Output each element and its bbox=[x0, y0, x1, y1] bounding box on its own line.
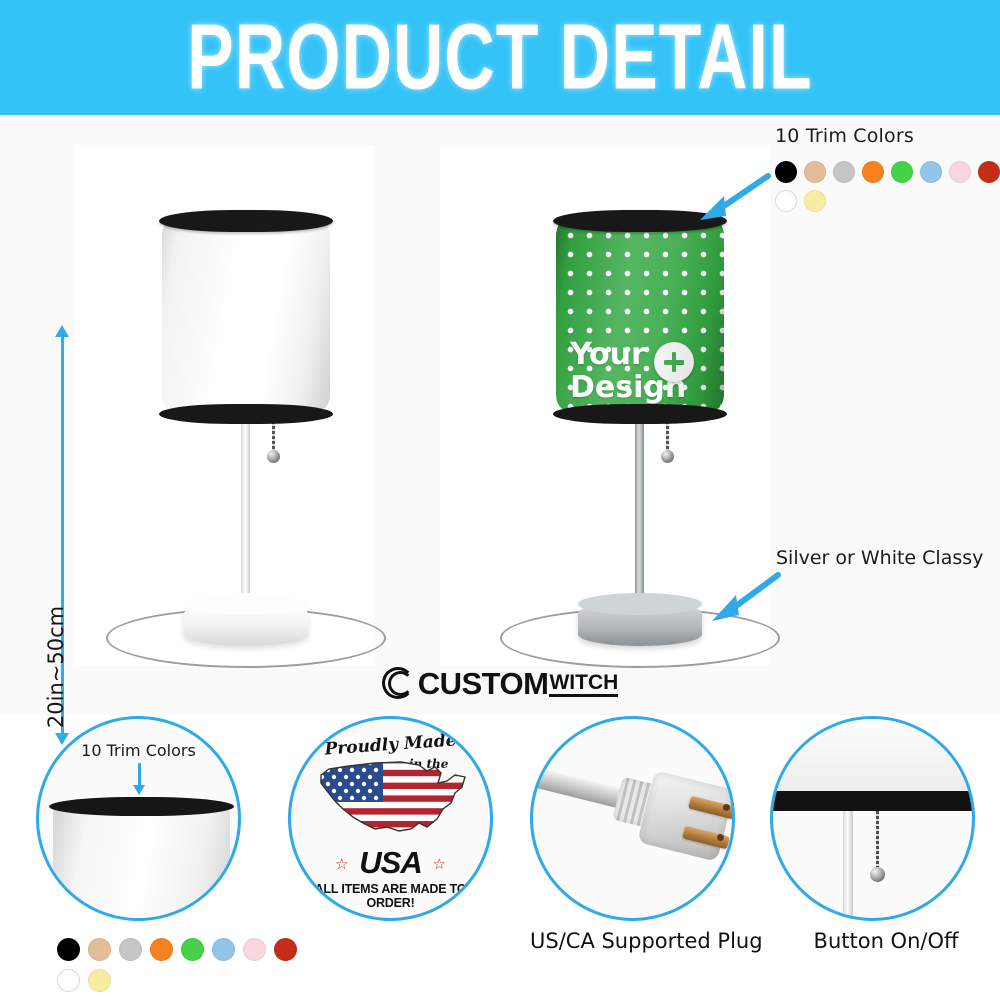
feature-inner-label: 10 Trim Colors bbox=[39, 741, 238, 760]
lamp-base bbox=[184, 602, 308, 646]
feature-caption: US/CA Supported Plug bbox=[530, 929, 762, 953]
base-callout-label: Silver or White Classy bbox=[776, 547, 983, 569]
pull-chain-ball-icon bbox=[267, 450, 280, 463]
color-swatch-orange[interactable] bbox=[150, 938, 173, 961]
shade-trim-bottom bbox=[770, 791, 975, 811]
base-callout-arrow bbox=[706, 567, 786, 627]
usa-text: USA bbox=[291, 845, 490, 881]
feature-made-in-usa: Proudly Made in the bbox=[288, 716, 520, 921]
brand-logo: CUSTOM WITCH bbox=[0, 662, 1000, 706]
shade-surface bbox=[53, 807, 230, 921]
lamp-base-top bbox=[578, 593, 702, 615]
trim-color-swatch-row[interactable] bbox=[775, 161, 1000, 212]
lamp-base bbox=[578, 602, 702, 646]
down-arrow-shaft bbox=[138, 763, 141, 787]
shade-surface: Your Design bbox=[556, 220, 724, 410]
header-banner: PRODUCT DETAIL bbox=[0, 0, 1000, 115]
shade-trim-top bbox=[49, 797, 234, 816]
color-swatch-black[interactable] bbox=[57, 938, 80, 961]
color-swatch-white[interactable] bbox=[775, 190, 797, 212]
feature-circle bbox=[530, 716, 735, 921]
color-swatch-green[interactable] bbox=[181, 938, 204, 961]
color-swatch-pink[interactable] bbox=[243, 938, 266, 961]
trim-colors-label: 10 Trim Colors bbox=[775, 125, 1000, 147]
trim-colors-callout: 10 Trim Colors bbox=[775, 125, 1000, 212]
logo-arc-inner bbox=[388, 671, 413, 696]
star-right-icon: ☆ bbox=[433, 855, 446, 873]
trim-callout-arrow bbox=[694, 170, 774, 225]
shade-surface bbox=[162, 220, 330, 410]
logo-witch-text: WITCH bbox=[549, 672, 618, 697]
lamp-shade-green: Your Design bbox=[556, 210, 724, 422]
feature-circle bbox=[770, 716, 975, 921]
shade-sheen bbox=[556, 220, 724, 410]
color-swatch-gray[interactable] bbox=[833, 161, 855, 183]
feature-circle: Proudly Made in the bbox=[288, 716, 493, 921]
page-title: PRODUCT DETAIL bbox=[187, 4, 812, 110]
feature-plug: US/CA Supported Plug bbox=[530, 716, 762, 953]
shade-surface bbox=[770, 716, 975, 799]
pull-chain-ball-icon bbox=[870, 867, 885, 882]
color-swatch-pink[interactable] bbox=[949, 161, 971, 183]
shade-trim-top bbox=[159, 210, 333, 232]
lamp-green-design: Your Design bbox=[556, 210, 726, 660]
lamp-pole bbox=[635, 415, 644, 607]
shade-trim-bottom bbox=[553, 404, 727, 424]
lamp-shade-white bbox=[162, 210, 330, 422]
pull-chain bbox=[876, 811, 879, 869]
color-swatch-black[interactable] bbox=[775, 161, 797, 183]
color-swatch-tan[interactable] bbox=[804, 161, 826, 183]
logo-custom-text: CUSTOM bbox=[418, 666, 549, 702]
color-swatch-lightblue[interactable] bbox=[212, 938, 235, 961]
lamp-pole bbox=[241, 415, 250, 607]
usa-map-flag-icon bbox=[315, 757, 475, 841]
lamp-white bbox=[162, 210, 332, 660]
color-swatch-lightblue[interactable] bbox=[920, 161, 942, 183]
color-swatch-white[interactable] bbox=[57, 969, 80, 992]
lamp-pole bbox=[843, 811, 853, 921]
color-swatch-yellow[interactable] bbox=[804, 190, 826, 212]
feature-caption: Button On/Off bbox=[770, 929, 1000, 953]
feature-trim-colors: 10 Trim Colors bbox=[36, 716, 268, 921]
shade-trim-bottom bbox=[159, 404, 333, 424]
pull-chain-ball-icon bbox=[661, 450, 674, 463]
bottom-trim-color-swatches[interactable] bbox=[57, 938, 297, 992]
color-swatch-orange[interactable] bbox=[862, 161, 884, 183]
logo-c-icon bbox=[382, 667, 416, 701]
color-swatch-green[interactable] bbox=[891, 161, 913, 183]
color-swatch-yellow[interactable] bbox=[88, 969, 111, 992]
color-swatch-red[interactable] bbox=[978, 161, 1000, 183]
color-swatch-red[interactable] bbox=[274, 938, 297, 961]
feature-circle: 10 Trim Colors bbox=[36, 716, 241, 921]
color-swatch-gray[interactable] bbox=[119, 938, 142, 961]
color-swatch-tan[interactable] bbox=[88, 938, 111, 961]
lamp-base-top bbox=[184, 593, 308, 615]
feature-button-onoff: Button On/Off bbox=[770, 716, 1000, 953]
down-arrow-icon bbox=[133, 785, 145, 795]
made-to-order-text: ALL ITEMS ARE MADE TO ORDER! bbox=[291, 882, 490, 910]
